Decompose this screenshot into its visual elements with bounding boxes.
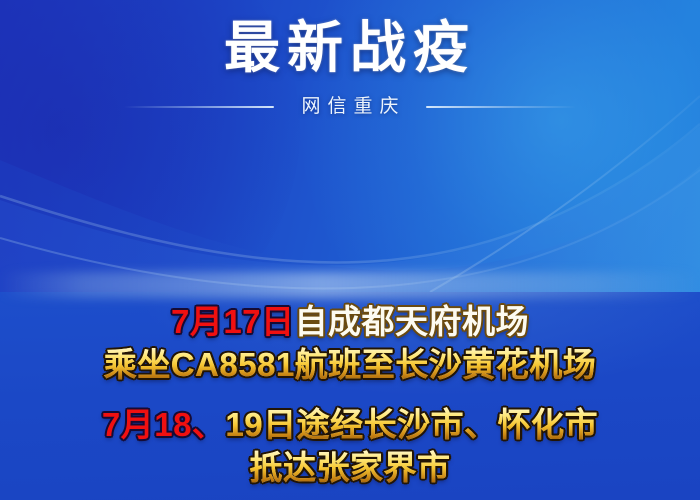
poster-subtitle: 网信重庆 [274,96,425,118]
itinerary-line: 7月17日自成都天府机场 [0,300,700,343]
itinerary-line: 抵达张家界市抵达张家界市 [0,446,700,489]
itinerary-text: 乘坐CA8581航班至长沙黄花机场乘坐CA8581航班至长沙黄花机场 [104,343,597,386]
itinerary-line: 乘坐CA8581航班至长沙黄花机场乘坐CA8581航班至长沙黄花机场 [0,343,700,386]
itinerary-line: 7月18、19日途经长沙市、怀化市19日途经长沙市、怀化市 [0,403,700,446]
itinerary-text-block: 7月17日自成都天府机场 乘坐CA8581航班至长沙黄花机场乘坐CA8581航班… [0,300,700,489]
itinerary-text-fill: 抵达张家界市 [250,449,451,486]
itinerary-date-highlight: 7月17日 [171,303,295,340]
page-title: 最新战疫 [0,0,700,80]
background-haze-band [0,272,700,298]
divider-right [426,106,576,108]
itinerary-text: 19日途经长沙市、怀化市19日途经长沙市、怀化市 [225,403,598,446]
itinerary-date-highlight: 7月18、 [102,406,226,443]
itinerary-text-fill: 19日途经长沙市、怀化市 [225,406,598,443]
itinerary-text: 抵达张家界市抵达张家界市 [250,446,451,489]
itinerary-text: 自成都天府机场 [295,303,530,340]
divider-left [124,106,274,108]
subtitle-row: 网信重庆 [0,96,700,118]
itinerary-text-fill: 乘坐CA8581航班至长沙黄花机场 [104,346,597,383]
poster-header: 最新战疫 网信重庆 [0,0,700,118]
epidemic-notice-poster: 最新战疫 网信重庆 7月17日自成都天府机场 乘坐CA8581航班至长沙黄花机场… [0,0,700,500]
